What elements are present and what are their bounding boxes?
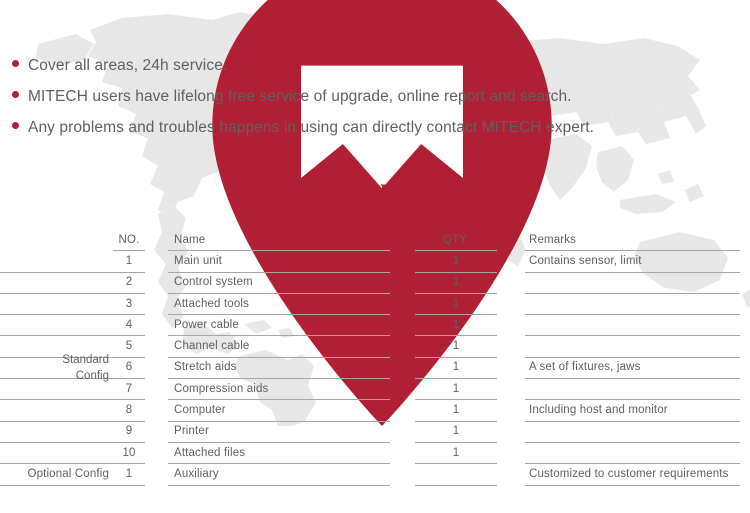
column-gap bbox=[497, 315, 525, 336]
cell-name: Control system bbox=[168, 273, 390, 294]
group-cell bbox=[0, 422, 113, 443]
column-gap bbox=[497, 443, 525, 464]
optional-config-label: Optional Config bbox=[0, 464, 113, 485]
page-root: Service Commitment Cover all areas, 24h … bbox=[0, 0, 750, 513]
column-gap bbox=[390, 400, 415, 421]
column-gap bbox=[390, 464, 415, 485]
cell-qty: 1 bbox=[415, 294, 497, 315]
cell-name: Attached files bbox=[168, 443, 390, 464]
table-header-row: NO. Name QTY. Remarks bbox=[0, 230, 750, 251]
header-no: NO. bbox=[113, 230, 145, 251]
cell-qty: 1 bbox=[415, 443, 497, 464]
group-cell bbox=[0, 400, 113, 421]
column-gap bbox=[145, 358, 168, 379]
column-gap bbox=[497, 400, 525, 421]
cell-qty: 1 bbox=[415, 358, 497, 379]
column-gap bbox=[497, 336, 525, 357]
column-gap bbox=[390, 294, 415, 315]
bullet-dot-icon bbox=[12, 91, 19, 98]
cell-name: Main unit bbox=[168, 251, 390, 272]
commitment-list: Cover all areas, 24h service. MITECH use… bbox=[12, 56, 742, 149]
cell-qty: 1 bbox=[415, 336, 497, 357]
column-gap bbox=[390, 379, 415, 400]
column-gap bbox=[390, 358, 415, 379]
header-name: Name bbox=[168, 230, 390, 251]
cell-no: 10 bbox=[113, 443, 145, 464]
standard-config-label-line1: Standard bbox=[0, 352, 109, 368]
cell-remarks: Customized to customer requirements bbox=[525, 464, 740, 485]
table-row: 9 Printer 1 bbox=[0, 422, 750, 443]
column-gap bbox=[497, 379, 525, 400]
group-cell bbox=[0, 273, 113, 294]
column-gap bbox=[497, 422, 525, 443]
cell-remarks: Contains sensor, limit bbox=[525, 251, 740, 272]
header-group bbox=[0, 230, 113, 251]
cell-no: 8 bbox=[113, 400, 145, 421]
column-gap bbox=[145, 400, 168, 421]
cell-qty bbox=[415, 464, 497, 485]
cell-no: 2 bbox=[113, 273, 145, 294]
cell-qty: 1 bbox=[415, 251, 497, 272]
column-gap bbox=[145, 294, 168, 315]
cell-name: Attached tools bbox=[168, 294, 390, 315]
cell-remarks bbox=[525, 294, 740, 315]
table-row: 3 Attached tools 1 bbox=[0, 294, 750, 315]
group-cell bbox=[0, 294, 113, 315]
group-cell bbox=[0, 443, 113, 464]
header-qty: QTY. bbox=[415, 230, 497, 251]
bullet-dot-icon bbox=[12, 60, 19, 67]
column-gap bbox=[145, 379, 168, 400]
column-gap bbox=[145, 251, 168, 272]
service-commitment-heading: Service Commitment bbox=[0, 6, 750, 32]
cell-name: Compression aids bbox=[168, 379, 390, 400]
column-gap bbox=[145, 422, 168, 443]
column-gap bbox=[497, 230, 525, 251]
column-gap bbox=[145, 273, 168, 294]
cell-no: 5 bbox=[113, 336, 145, 357]
standard-config-label: Standard Config bbox=[0, 352, 113, 384]
list-item: MITECH users have lifelong free service … bbox=[12, 87, 742, 118]
column-gap bbox=[145, 230, 168, 251]
cell-no: 1 bbox=[113, 251, 145, 272]
column-gap bbox=[145, 336, 168, 357]
cell-no: 3 bbox=[113, 294, 145, 315]
column-gap bbox=[497, 358, 525, 379]
column-gap bbox=[145, 315, 168, 336]
commitment-text: Cover all areas, 24h service. bbox=[28, 56, 227, 75]
column-gap bbox=[390, 336, 415, 357]
cell-name: Power cable bbox=[168, 315, 390, 336]
table-row: 10 Attached files 1 bbox=[0, 443, 750, 464]
column-gap bbox=[390, 422, 415, 443]
group-cell bbox=[0, 315, 113, 336]
cell-qty: 1 bbox=[415, 273, 497, 294]
column-gap bbox=[145, 464, 168, 485]
column-gap bbox=[390, 251, 415, 272]
configurations-heading: Configurations bbox=[0, 175, 750, 201]
column-gap bbox=[497, 273, 525, 294]
cell-no: 9 bbox=[113, 422, 145, 443]
cell-name: Computer bbox=[168, 400, 390, 421]
cell-name: Printer bbox=[168, 422, 390, 443]
cell-qty: 1 bbox=[415, 315, 497, 336]
table-row: 4 Power cable 1 bbox=[0, 315, 750, 336]
cell-qty: 1 bbox=[415, 379, 497, 400]
table-row: 2 Control system 1 bbox=[0, 273, 750, 294]
cell-remarks bbox=[525, 273, 740, 294]
cell-name: Auxiliary bbox=[168, 464, 390, 485]
commitment-text: Any problems and troubles happens in usi… bbox=[28, 118, 594, 137]
cell-remarks: A set of fixtures, jaws bbox=[525, 358, 740, 379]
standard-config-label-line2: Config bbox=[0, 368, 109, 384]
cell-no: 4 bbox=[113, 315, 145, 336]
bullet-dot-icon bbox=[12, 122, 19, 129]
column-gap bbox=[390, 230, 415, 251]
group-cell bbox=[0, 251, 113, 272]
header-remarks: Remarks bbox=[525, 230, 740, 251]
column-gap bbox=[497, 251, 525, 272]
column-gap bbox=[390, 443, 415, 464]
cell-name: Stretch aids bbox=[168, 358, 390, 379]
cell-name: Channel cable bbox=[168, 336, 390, 357]
cell-qty: 1 bbox=[415, 422, 497, 443]
column-gap bbox=[390, 315, 415, 336]
cell-remarks bbox=[525, 422, 740, 443]
commitment-text: MITECH users have lifelong free service … bbox=[28, 87, 572, 106]
list-item: Any problems and troubles happens in usi… bbox=[12, 118, 742, 149]
cell-no: 7 bbox=[113, 379, 145, 400]
cell-remarks: Including host and monitor bbox=[525, 400, 740, 421]
cell-remarks bbox=[525, 379, 740, 400]
column-gap bbox=[497, 294, 525, 315]
cell-remarks bbox=[525, 443, 740, 464]
list-item: Cover all areas, 24h service. bbox=[12, 56, 742, 87]
column-gap bbox=[390, 273, 415, 294]
cell-qty: 1 bbox=[415, 400, 497, 421]
configurations-table: NO. Name QTY. Remarks 1 Main unit 1 Cont… bbox=[0, 230, 750, 486]
table-row: 1 Main unit 1 Contains sensor, limit bbox=[0, 251, 750, 272]
table-row-optional: Optional Config 1 Auxiliary Customized t… bbox=[0, 464, 750, 485]
column-gap bbox=[497, 464, 525, 485]
cell-no: 6 bbox=[113, 358, 145, 379]
cell-no: 1 bbox=[113, 464, 145, 485]
cell-remarks bbox=[525, 336, 740, 357]
cell-remarks bbox=[525, 315, 740, 336]
column-gap bbox=[145, 443, 168, 464]
table-row: 8 Computer 1 Including host and monitor bbox=[0, 400, 750, 421]
